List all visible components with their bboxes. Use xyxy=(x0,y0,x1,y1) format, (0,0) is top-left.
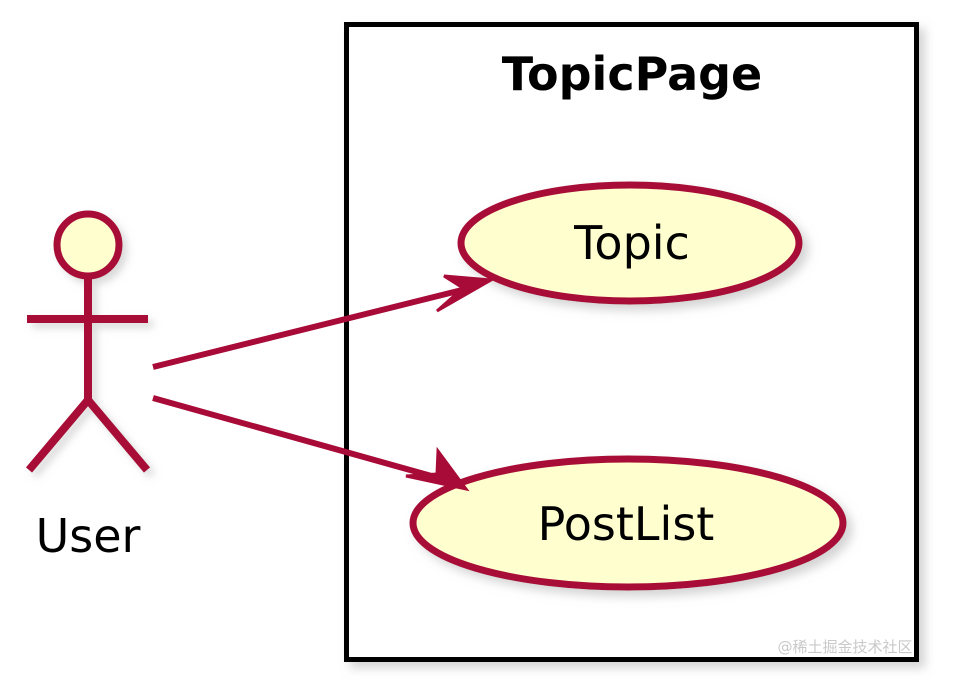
actor-label: User xyxy=(36,509,141,563)
actor-head-icon xyxy=(57,214,119,276)
actor-right-leg-line xyxy=(88,400,147,470)
actor-left-leg-line xyxy=(29,400,88,470)
actor-user[interactable]: User xyxy=(27,214,148,563)
use-case-postlist[interactable]: PostList xyxy=(413,459,843,587)
use-case-topic[interactable]: Topic xyxy=(461,185,799,301)
uml-use-case-diagram: TopicPage User Topic PostList xyxy=(0,0,954,686)
use-case-topic-label: Topic xyxy=(573,216,690,270)
diagram-canvas: TopicPage User Topic PostList xyxy=(0,0,954,686)
actor-figure xyxy=(27,214,148,470)
watermark-label: @稀土掘金技术社区 xyxy=(777,638,912,656)
package-title: TopicPage xyxy=(502,47,762,101)
use-case-postlist-label: PostList xyxy=(538,497,715,551)
